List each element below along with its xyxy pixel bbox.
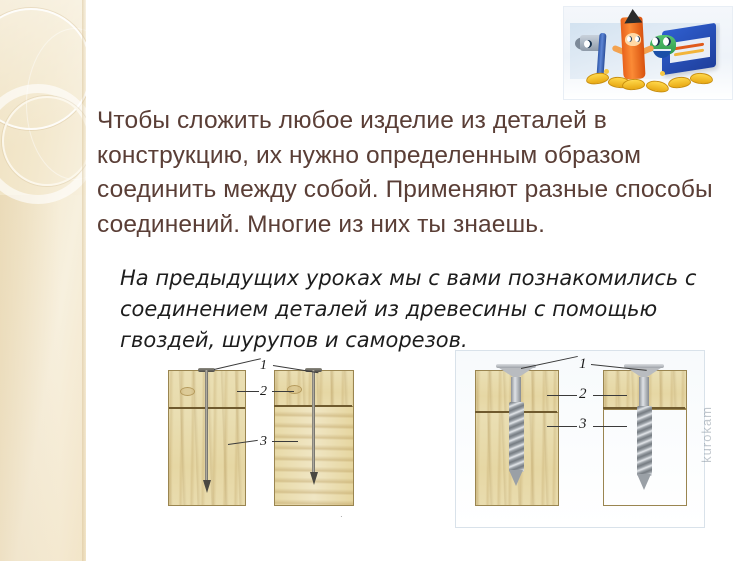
nail-shaft-icon [205, 370, 208, 482]
pencil-eye-icon [627, 36, 632, 42]
slide-body-text: На предыдущих уроках мы с вами познакоми… [120, 263, 725, 356]
callout-leader-1a [214, 358, 261, 370]
callout-number-2: 2 [260, 384, 267, 400]
book-eye-icon [663, 37, 671, 46]
callout-leader-3a [547, 426, 577, 427]
left-decor-panel [0, 0, 86, 561]
panel-shade [0, 195, 86, 561]
nail-joint-diagram: 1 2 3 · [152, 358, 384, 523]
callout-leader-2b [272, 391, 294, 392]
callout-number-1: 1 [579, 356, 587, 373]
screw-shank-icon [511, 377, 521, 403]
panel-edge [82, 0, 86, 561]
shoe-icon [645, 79, 670, 94]
nail-point-icon [310, 472, 318, 485]
pencil-tip-icon [624, 9, 643, 24]
callout-leader-2b [593, 395, 627, 396]
nail-point-icon [203, 480, 211, 493]
hammer-eye-icon [584, 40, 592, 48]
figure-tick-mark: · [340, 512, 343, 521]
clipart-dot-icon [604, 69, 609, 74]
slide-heading: Чтобы сложить любое изделие из деталей в… [97, 104, 722, 242]
callout-number-2: 2 [579, 386, 587, 403]
screw-thread-icon [637, 406, 652, 476]
clipart-cartoon-tools [563, 6, 733, 100]
screw-joint-diagram: 1 2 3 kurokam [455, 350, 705, 528]
callout-leader-2a [547, 395, 577, 396]
pencil-eye-icon [635, 36, 640, 42]
nail-shaft-icon [312, 370, 315, 474]
wood-knot-icon [287, 385, 302, 394]
book-eye-icon [652, 37, 660, 46]
clipart-dot-icon [660, 71, 665, 76]
pencil-body-icon [620, 16, 645, 79]
callout-number-1: 1 [260, 358, 267, 374]
screw-shank-icon [639, 377, 649, 407]
callout-leader-2a [237, 391, 259, 392]
wood-knot-icon [180, 387, 195, 396]
screw-tip-icon [637, 474, 651, 490]
decor-ring-thin-icon [2, 96, 86, 186]
screw-thread-icon [509, 402, 524, 472]
callout-leader-3b [272, 441, 298, 442]
screw-tip-icon [509, 470, 523, 486]
callout-number-3: 3 [260, 434, 267, 450]
figure-watermark: kurokam [699, 406, 714, 463]
callout-leader-3b [593, 426, 627, 427]
slide: Чтобы сложить любое изделие из деталей в… [0, 0, 750, 561]
callout-number-3: 3 [579, 416, 587, 433]
shoe-icon [622, 78, 646, 91]
